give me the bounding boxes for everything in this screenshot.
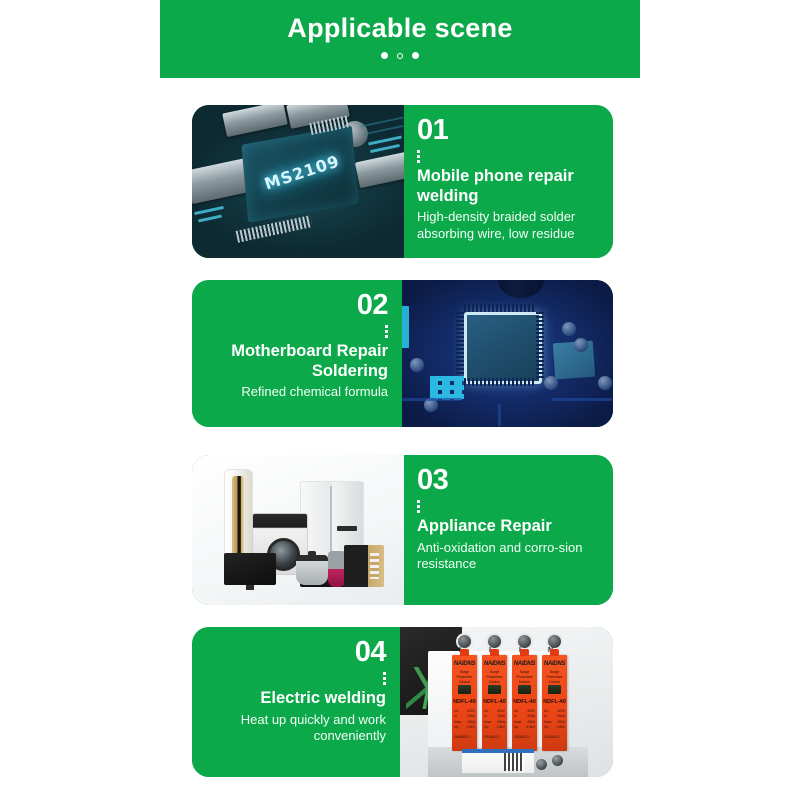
capacitor-icon	[574, 338, 588, 352]
surge-protector-module-4: NAIDNS Surge Protective Device NDFL-40 U…	[542, 655, 567, 751]
device-brand-label: NAIDNS	[512, 661, 537, 667]
card-03-text-panel: 03 Appliance Repair Anti-oxidation and c…	[404, 455, 613, 605]
cpu-pins-top	[464, 304, 536, 312]
pcb-trace	[498, 404, 501, 426]
usb-connector-right-icon	[355, 152, 404, 188]
panel-screw-icon	[536, 759, 547, 770]
device-model-label: NDFL-40	[512, 699, 537, 705]
card-01-subtext: High-density braided solder absorbing wi…	[417, 209, 601, 242]
pcb-glow-connector	[402, 306, 409, 348]
scene-card-01[interactable]: MS2109 01 Mobile phone repair welding Hi…	[192, 105, 613, 258]
dotted-separator	[383, 672, 386, 685]
page-header: Applicable scene	[160, 0, 640, 78]
status-window	[488, 685, 501, 694]
capacitor-icon	[544, 376, 558, 390]
cpu-chip-icon	[464, 312, 542, 384]
capacitor-icon	[562, 322, 576, 336]
cpu-pins-bottom	[464, 378, 536, 386]
card-01-image: MS2109	[192, 105, 404, 258]
pcb-glow-trace	[194, 206, 224, 215]
device-specs-list: Un420V In20kA Imax40kA Up1.8kV	[454, 709, 475, 731]
card-01-text-panel: 01 Mobile phone repair welding High-dens…	[404, 105, 613, 258]
page-title: Applicable scene	[160, 13, 640, 44]
scene-card-03[interactable]: 03 Appliance Repair Anti-oxidation and c…	[192, 455, 613, 605]
card-01-heading: Mobile phone repair welding	[417, 167, 601, 206]
device-model-label: NDFL-40	[452, 699, 477, 705]
qr-code-icon	[504, 753, 524, 771]
scene-card-02[interactable]: 02 Motherboard Repair Soldering Refined …	[192, 280, 613, 427]
status-window	[548, 685, 561, 694]
card-02-image	[402, 280, 613, 427]
device-type-label: Surge Protective Device	[452, 670, 477, 686]
card-04-number: 04	[355, 638, 386, 667]
card-04-subtext: Heat up quickly and work conveniently	[204, 712, 386, 745]
device-model-label: NDFL-40	[542, 699, 567, 705]
device-type-label: Surge Protective Device	[512, 670, 537, 686]
device-specs-list: Un420V In20kA Imax40kA Up1.8kV	[544, 709, 565, 731]
usb-connector-top-icon	[222, 105, 288, 137]
device-cert-label: GB18802.1	[544, 735, 565, 739]
card-03-subtext: Anti-oxidation and corro-sion resistance	[417, 540, 601, 573]
device-specs-list: Un420V In20kA Imax40kA Up1.8kV	[514, 709, 535, 731]
status-window	[518, 685, 531, 694]
card-03-image	[192, 455, 404, 605]
pcb-glow-trace	[198, 215, 222, 223]
card-02-heading: Motherboard Repair Soldering	[204, 342, 388, 381]
card-02-number: 02	[357, 291, 388, 320]
card-04-heading: Electric welding	[260, 689, 386, 708]
device-brand-label: NAIDNS	[542, 661, 567, 667]
surge-protector-module-1: NAIDNS Surge Protective Device NDFL-40 U…	[452, 655, 477, 751]
pcb-pad-grid	[430, 376, 464, 400]
pcb-trace	[364, 125, 404, 135]
rice-cooker-icon	[296, 555, 328, 585]
capacitor-icon	[598, 376, 612, 390]
dotted-separator	[385, 325, 388, 338]
pcb-dark-circle	[498, 280, 544, 298]
card-04-image: L L L N NAIDNS Surge Protective Device N…	[400, 627, 613, 777]
card-02-text-panel: 02 Motherboard Repair Soldering Refined …	[192, 280, 402, 427]
pcb-trace	[552, 398, 612, 401]
carousel-dot-3[interactable]	[412, 52, 419, 59]
device-model-label: NDFL-40	[482, 699, 507, 705]
surge-protector-module-2: NAIDNS Surge Protective Device NDFL-40 U…	[482, 655, 507, 751]
pcb-glow-trace	[370, 144, 400, 153]
device-specs-list: Un420V In20kA Imax40kA Up1.8kV	[484, 709, 505, 731]
card-03-heading: Appliance Repair	[417, 517, 601, 536]
dotted-separator	[417, 150, 601, 163]
surge-protector-module-3: NAIDNS Surge Protective Device NDFL-40 U…	[512, 655, 537, 751]
microwave-oven-icon	[344, 545, 384, 587]
carousel-dots[interactable]	[160, 52, 640, 59]
device-cert-label: GB18802.1	[484, 735, 505, 739]
device-type-label: Surge Protective Device	[542, 670, 567, 686]
pcb-trace	[402, 398, 462, 401]
card-03-number: 03	[417, 466, 601, 495]
card-02-subtext: Refined chemical formula	[241, 384, 388, 401]
carousel-dot-2[interactable]	[397, 53, 403, 59]
card-04-text-panel: 04 Electric welding Heat up quickly and …	[192, 627, 400, 777]
device-brand-label: NAIDNS	[452, 661, 477, 667]
panel-screw-icon-2	[552, 755, 563, 766]
television-icon	[224, 553, 276, 585]
dotted-separator	[417, 500, 601, 513]
carousel-dot-1[interactable]	[381, 52, 388, 59]
cpu-pins-right	[536, 312, 544, 378]
device-cert-label: GB18802.1	[454, 735, 475, 739]
card-01-number: 01	[417, 116, 601, 145]
device-type-label: Surge Protective Device	[482, 670, 507, 686]
applicable-scene-page: Applicable scene MS2109 01	[0, 0, 800, 800]
capacitor-icon	[410, 358, 424, 372]
cpu-pins-left	[456, 312, 464, 378]
device-brand-label: NAIDNS	[482, 661, 507, 667]
scene-card-04[interactable]: 04 Electric welding Heat up quickly and …	[192, 627, 613, 777]
status-window	[458, 685, 471, 694]
device-cert-label: GB18802.1	[514, 735, 535, 739]
